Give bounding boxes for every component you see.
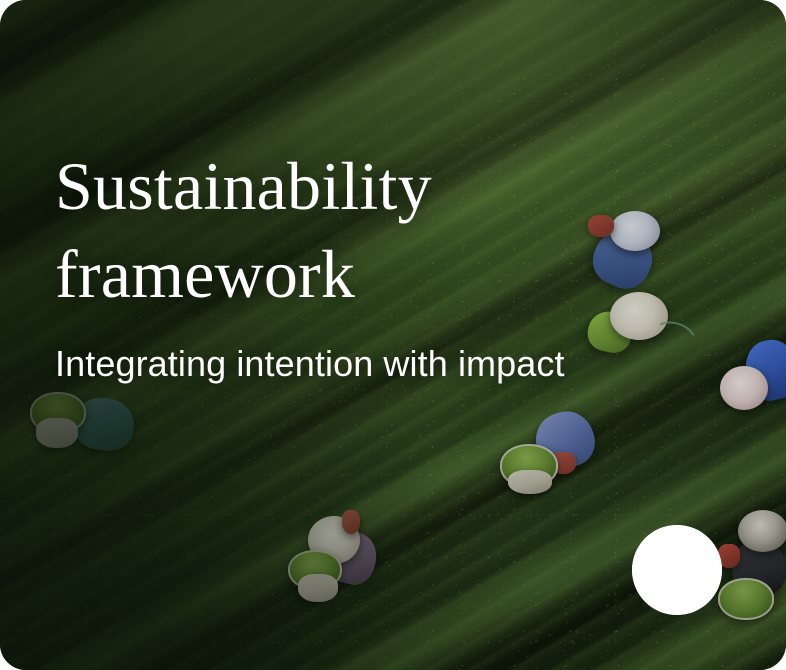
arrow-right-icon bbox=[632, 525, 722, 615]
page-subtitle: Integrating intention with impact bbox=[55, 341, 695, 386]
hero-copy: Sustainability framework Integrating int… bbox=[55, 142, 695, 386]
hero-card: Sustainability framework Integrating int… bbox=[0, 0, 786, 670]
continue-arrow-button[interactable] bbox=[632, 525, 722, 615]
page-title: Sustainability framework bbox=[55, 142, 695, 319]
